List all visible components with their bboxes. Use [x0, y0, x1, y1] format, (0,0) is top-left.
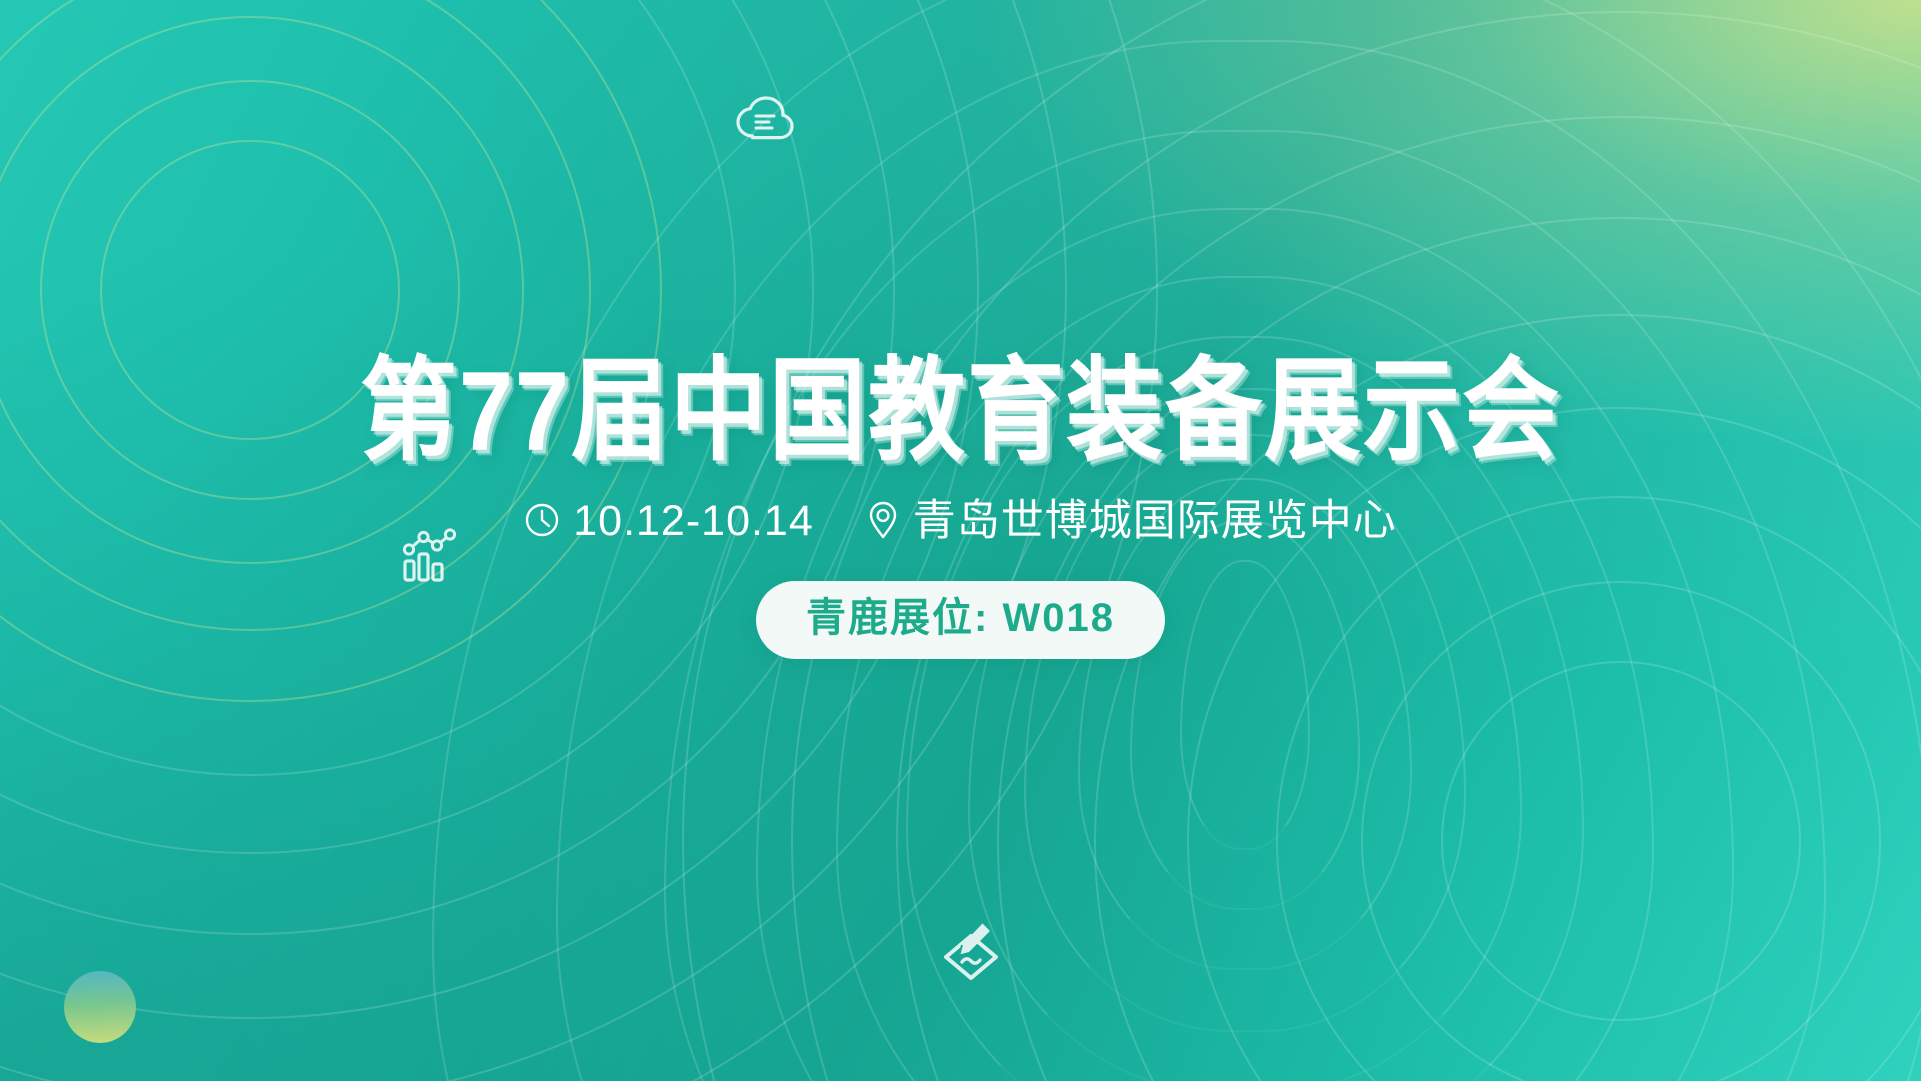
pen-signature-icon	[938, 920, 1004, 982]
event-meta-row: 10.12-10.14 青岛世博城国际展览中心	[524, 497, 1397, 543]
clock-icon	[524, 502, 560, 538]
event-date-text: 10.12-10.14	[573, 497, 814, 543]
event-venue: 青岛世博城国际展览中心	[866, 497, 1397, 543]
location-pin-icon	[866, 500, 900, 540]
decorative-gradient-circle	[64, 971, 136, 1043]
event-venue-text: 青岛世博城国际展览中心	[913, 497, 1397, 543]
booth-number-badge[interactable]: 青鹿展位: W018	[756, 581, 1165, 659]
cloud-document-icon	[734, 94, 796, 142]
page-title: 第77届中国教育装备展示会	[360, 352, 1561, 471]
event-promo-banner: 第77届中国教育装备展示会 10.12-10.14	[0, 0, 1921, 1081]
banner-content: 第77届中国教育装备展示会 10.12-10.14	[0, 352, 1921, 659]
event-date: 10.12-10.14	[524, 497, 814, 543]
